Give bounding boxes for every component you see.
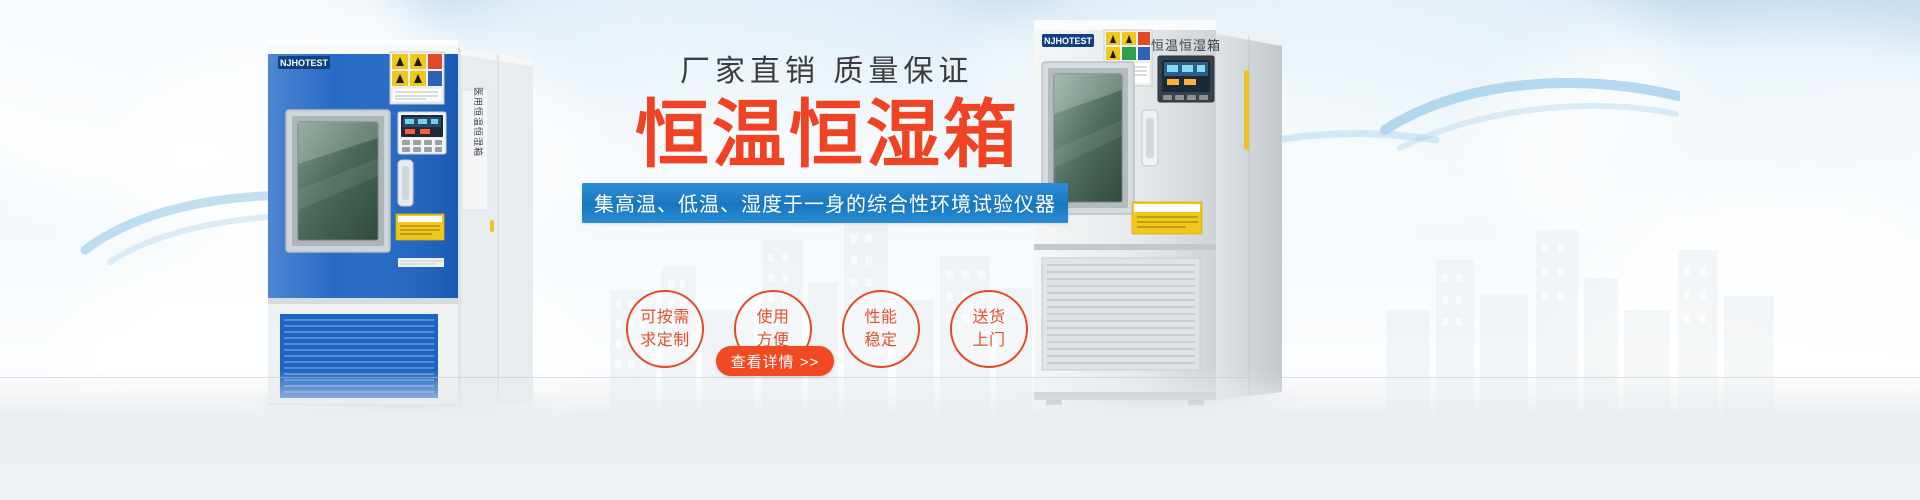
feature-badge-line2: 稳定 (864, 329, 897, 352)
promo-banner: NJHOTEST (0, 0, 1920, 500)
banner-subtitle: 集高温、低温、湿度于一身的综合性环境试验仪器 (582, 183, 1068, 223)
skyline-silhouette-icon (1380, 170, 1800, 420)
banner-eyebrow: 厂家直销 质量保证 (680, 55, 1075, 90)
feature-badge-line1: 性能 (864, 306, 897, 329)
view-details-button[interactable]: 查看详情 >> (716, 346, 834, 376)
svg-text:NJHOTEST: NJHOTEST (1044, 36, 1093, 46)
svg-text:NJHOTEST: NJHOTEST (280, 58, 329, 68)
feature-badge[interactable]: 可按需 求定制 (626, 290, 704, 368)
cloud-wisp (1560, 200, 1920, 500)
swoosh-arc-icon (1380, 70, 1680, 160)
feature-badge-line1: 使用 (756, 306, 789, 329)
feature-badge-line2: 求定制 (640, 329, 690, 352)
svg-text:医用恒温恒湿箱: 医用恒温恒湿箱 (473, 87, 484, 157)
feature-badge[interactable]: 性能 稳定 (842, 290, 920, 368)
feature-badge-line1: 可按需 (640, 306, 690, 329)
feature-badge[interactable]: 送货 上门 (950, 290, 1028, 368)
feature-badge-line1: 送货 (972, 306, 1005, 329)
feature-badge-line2: 上门 (972, 329, 1005, 352)
banner-headline: 恒温恒湿箱 (580, 94, 1075, 175)
banner-copy: 厂家直销 质量保证 恒温恒湿箱 集高温、低温、湿度于一身的综合性环境试验仪器 (575, 55, 1075, 223)
cloud-wisp (1480, 20, 1920, 280)
product-image-left-chamber: NJHOTEST (250, 30, 540, 405)
svg-text:恒温恒湿箱: 恒温恒湿箱 (1151, 38, 1221, 53)
